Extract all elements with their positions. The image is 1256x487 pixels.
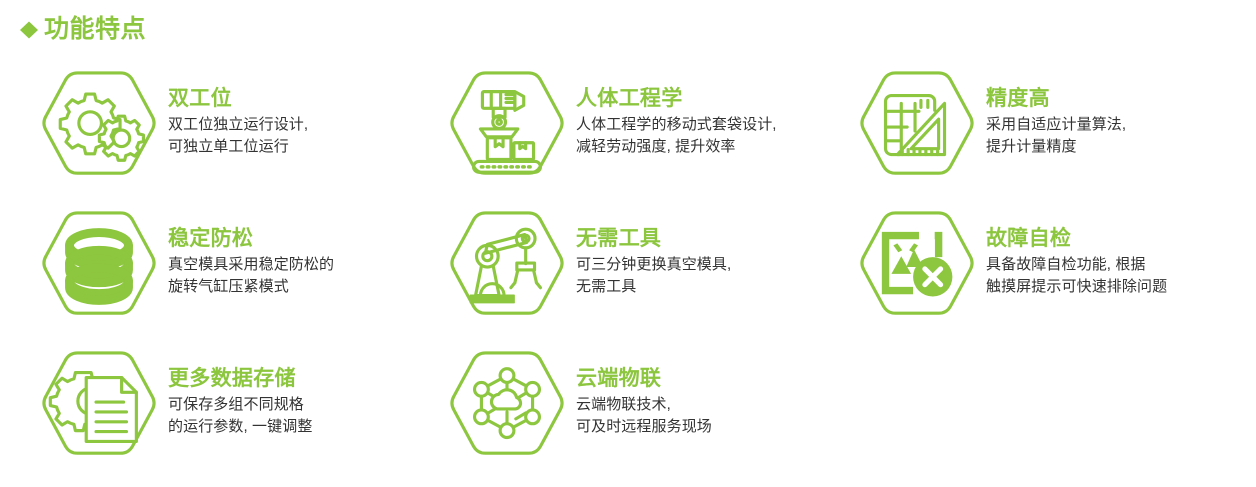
desc-line: 具备故障自检功能, 根据 bbox=[986, 254, 1167, 277]
desc-line: 提升计量精度 bbox=[986, 136, 1126, 159]
desc-line: 云端物联技术, bbox=[576, 394, 712, 417]
section-heading: 功能特点 bbox=[18, 17, 146, 42]
feature-card-self-diagnosis[interactable]: 故障自检 具备故障自检功能, 根据 触摸屏提示可快速排除问题 bbox=[858, 208, 1256, 348]
desc-line: 可及时远程服务现场 bbox=[576, 416, 712, 439]
feature-title: 故障自检 bbox=[986, 227, 1167, 251]
feature-description: 真空模具采用稳定防松的 旋转气缸压紧模式 bbox=[168, 254, 334, 300]
desc-line: 人体工程学的移动式套袋设计, bbox=[576, 114, 777, 137]
desc-line: 可三分钟更换真空模具, bbox=[576, 254, 731, 277]
feature-highlights-page: 功能特点 双工位 双工位独立运行设计, 可独立单工位运行 bbox=[0, 0, 1256, 487]
feature-title: 稳定防松 bbox=[168, 227, 334, 251]
feature-text: 双工位 双工位独立运行设计, 可独立单工位运行 bbox=[168, 68, 308, 159]
desc-line: 真空模具采用稳定防松的 bbox=[168, 254, 334, 277]
stacked-discs-icon bbox=[40, 208, 158, 328]
packaging-machine-icon bbox=[448, 68, 566, 188]
feature-card-more-data-storage[interactable]: 更多数据存储 可保存多组不同规格 的运行参数, 一键调整 bbox=[40, 348, 448, 487]
feature-card-cloud-iot[interactable]: 云端物联 云端物联技术, 可及时远程服务现场 bbox=[448, 348, 858, 487]
feature-description: 可三分钟更换真空模具, 无需工具 bbox=[576, 254, 731, 300]
desc-line: 无需工具 bbox=[576, 276, 731, 299]
feature-text: 精度高 采用自适应计量算法, 提升计量精度 bbox=[986, 68, 1126, 159]
feature-title: 精度高 bbox=[986, 87, 1126, 111]
feature-title: 云端物联 bbox=[576, 367, 712, 391]
desc-line: 可保存多组不同规格 bbox=[168, 394, 312, 417]
gear-document-icon bbox=[40, 348, 158, 468]
desc-line: 可独立单工位运行 bbox=[168, 136, 308, 159]
feature-description: 云端物联技术, 可及时远程服务现场 bbox=[576, 394, 712, 440]
feature-grid: 双工位 双工位独立运行设计, 可独立单工位运行 bbox=[40, 68, 1256, 487]
feature-card-dual-station[interactable]: 双工位 双工位独立运行设计, 可独立单工位运行 bbox=[40, 68, 448, 208]
feature-description: 可保存多组不同规格 的运行参数, 一键调整 bbox=[168, 394, 312, 440]
desc-line: 采用自适应计量算法, bbox=[986, 114, 1126, 137]
feature-title: 双工位 bbox=[168, 87, 308, 111]
feature-card-ergonomics[interactable]: 人体工程学 人体工程学的移动式套袋设计, 减轻劳动强度, 提升效率 bbox=[448, 68, 858, 208]
feature-description: 人体工程学的移动式套袋设计, 减轻劳动强度, 提升效率 bbox=[576, 114, 777, 160]
feature-text: 无需工具 可三分钟更换真空模具, 无需工具 bbox=[576, 208, 731, 299]
feature-card-high-precision[interactable]: 精度高 采用自适应计量算法, 提升计量精度 bbox=[858, 68, 1256, 208]
feature-card-stable-anti-loosening[interactable]: 稳定防松 真空模具采用稳定防松的 旋转气缸压紧模式 bbox=[40, 208, 448, 348]
feature-title: 更多数据存储 bbox=[168, 367, 312, 391]
desc-line: 旋转气缸压紧模式 bbox=[168, 276, 334, 299]
feature-text: 更多数据存储 可保存多组不同规格 的运行参数, 一键调整 bbox=[168, 348, 312, 439]
feature-description: 双工位独立运行设计, 可独立单工位运行 bbox=[168, 114, 308, 160]
feature-description: 具备故障自检功能, 根据 触摸屏提示可快速排除问题 bbox=[986, 254, 1167, 300]
feature-description: 采用自适应计量算法, 提升计量精度 bbox=[986, 114, 1126, 160]
feature-title: 无需工具 bbox=[576, 227, 731, 251]
feature-text: 人体工程学 人体工程学的移动式套袋设计, 减轻劳动强度, 提升效率 bbox=[576, 68, 777, 159]
gears-icon bbox=[40, 68, 158, 188]
fault-detection-icon bbox=[858, 208, 976, 328]
desc-line: 触摸屏提示可快速排除问题 bbox=[986, 276, 1167, 299]
cloud-network-icon bbox=[448, 348, 566, 468]
feature-card-no-tools[interactable]: 无需工具 可三分钟更换真空模具, 无需工具 bbox=[448, 208, 858, 348]
feature-text: 稳定防松 真空模具采用稳定防松的 旋转气缸压紧模式 bbox=[168, 208, 334, 299]
diamond-marker-icon bbox=[18, 19, 40, 41]
feature-text: 故障自检 具备故障自检功能, 根据 触摸屏提示可快速排除问题 bbox=[986, 208, 1167, 299]
desc-line: 双工位独立运行设计, bbox=[168, 114, 308, 137]
feature-title: 人体工程学 bbox=[576, 87, 777, 111]
blueprint-ruler-icon bbox=[858, 68, 976, 188]
desc-line: 减轻劳动强度, 提升效率 bbox=[576, 136, 777, 159]
page-title: 功能特点 bbox=[44, 17, 146, 42]
desc-line: 的运行参数, 一键调整 bbox=[168, 416, 312, 439]
feature-text: 云端物联 云端物联技术, 可及时远程服务现场 bbox=[576, 348, 712, 439]
robot-arm-icon bbox=[448, 208, 566, 328]
